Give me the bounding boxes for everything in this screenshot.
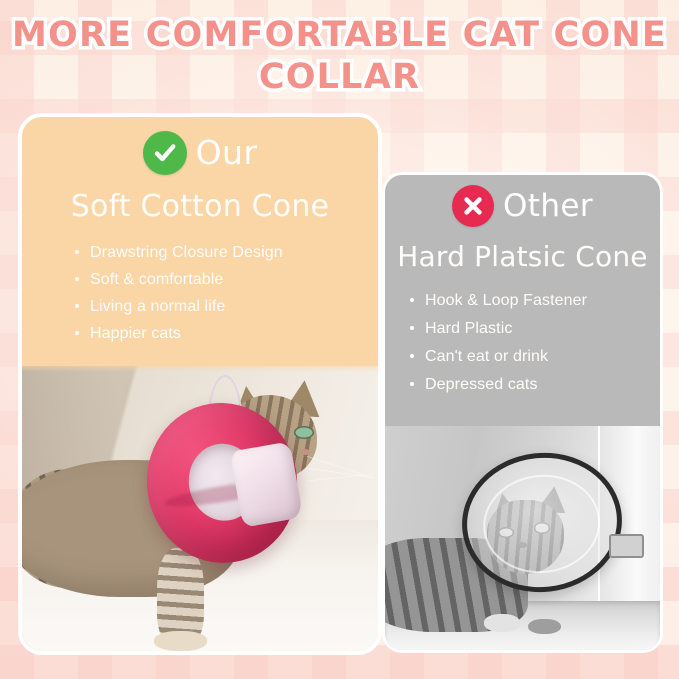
cat-paw-front	[484, 614, 520, 632]
check-circle-icon	[143, 131, 187, 175]
other-panel-header: Other	[385, 185, 660, 227]
photo-scene-warm	[22, 366, 378, 651]
cat-paw	[154, 631, 207, 651]
cat-eye-right	[294, 426, 314, 439]
list-item: Living a normal life	[74, 293, 378, 320]
our-panel-header: Our	[22, 131, 378, 175]
our-subtitle: Soft Cotton Cone	[22, 189, 378, 225]
cat-whiskers	[307, 452, 375, 492]
list-item: Happier cats	[74, 320, 378, 347]
list-item: Hard Plastic	[409, 315, 660, 343]
photo-scene-cool	[385, 426, 660, 650]
other-product-panel: Other Hard Platsic Cone Hook & Loop Fast…	[382, 172, 663, 653]
inner-collar-band	[229, 441, 302, 527]
other-product-photo	[385, 426, 660, 650]
other-feature-list: Hook & Loop Fastener Hard Plastic Can't …	[385, 287, 660, 399]
list-item: Soft & comfortable	[74, 266, 378, 293]
list-item: Can't eat or drink	[409, 343, 660, 371]
other-label: Other	[503, 187, 593, 225]
other-subtitle: Hard Platsic Cone	[385, 239, 660, 275]
our-feature-list: Drawstring Closure Design Soft & comfort…	[22, 239, 378, 347]
list-item: Drawstring Closure Design	[74, 239, 378, 266]
photo-top-blend	[22, 366, 378, 372]
cone-inner-ring	[479, 469, 605, 579]
cone-fastener-tab	[609, 534, 643, 558]
page-title: MORE COMFORTABLE CAT CONE COLLAR	[0, 14, 679, 98]
our-label: Our	[196, 134, 258, 172]
our-product-panel: Our Soft Cotton Cone Drawstring Closure …	[18, 113, 382, 655]
cat-paw-rear	[528, 619, 561, 635]
infographic-canvas: MORE COMFORTABLE CAT CONE COLLAR Our Sof…	[0, 0, 679, 679]
list-item: Depressed cats	[409, 371, 660, 399]
list-item: Hook & Loop Fastener	[409, 287, 660, 315]
our-product-photo	[22, 366, 378, 651]
cross-circle-icon	[452, 185, 494, 227]
